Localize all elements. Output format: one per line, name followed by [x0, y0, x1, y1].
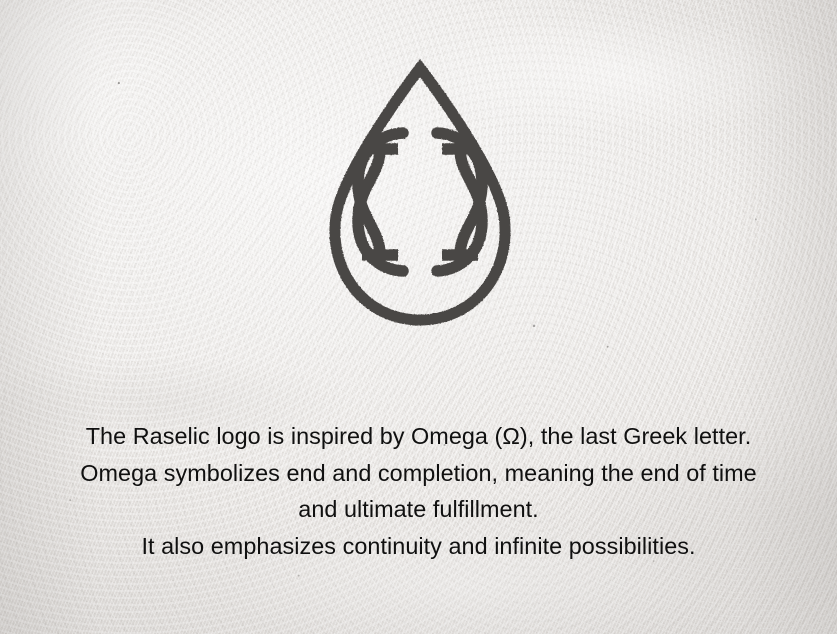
slide-canvas: The Raselic logo is inspired by Omega (Ω… [0, 0, 837, 634]
caption-line-1: The Raselic logo is inspired by Omega (Ω… [0, 418, 837, 455]
raselic-water-drop-omega-logo [300, 48, 540, 348]
logo-svg [300, 48, 540, 348]
logo-description-caption: The Raselic logo is inspired by Omega (Ω… [0, 418, 837, 564]
caption-line-4: It also emphasizes continuity and infini… [0, 528, 837, 565]
caption-line-2: Omega symbolizes end and completion, mea… [0, 455, 837, 492]
caption-line-3: and ultimate fulfillment. [0, 491, 837, 528]
